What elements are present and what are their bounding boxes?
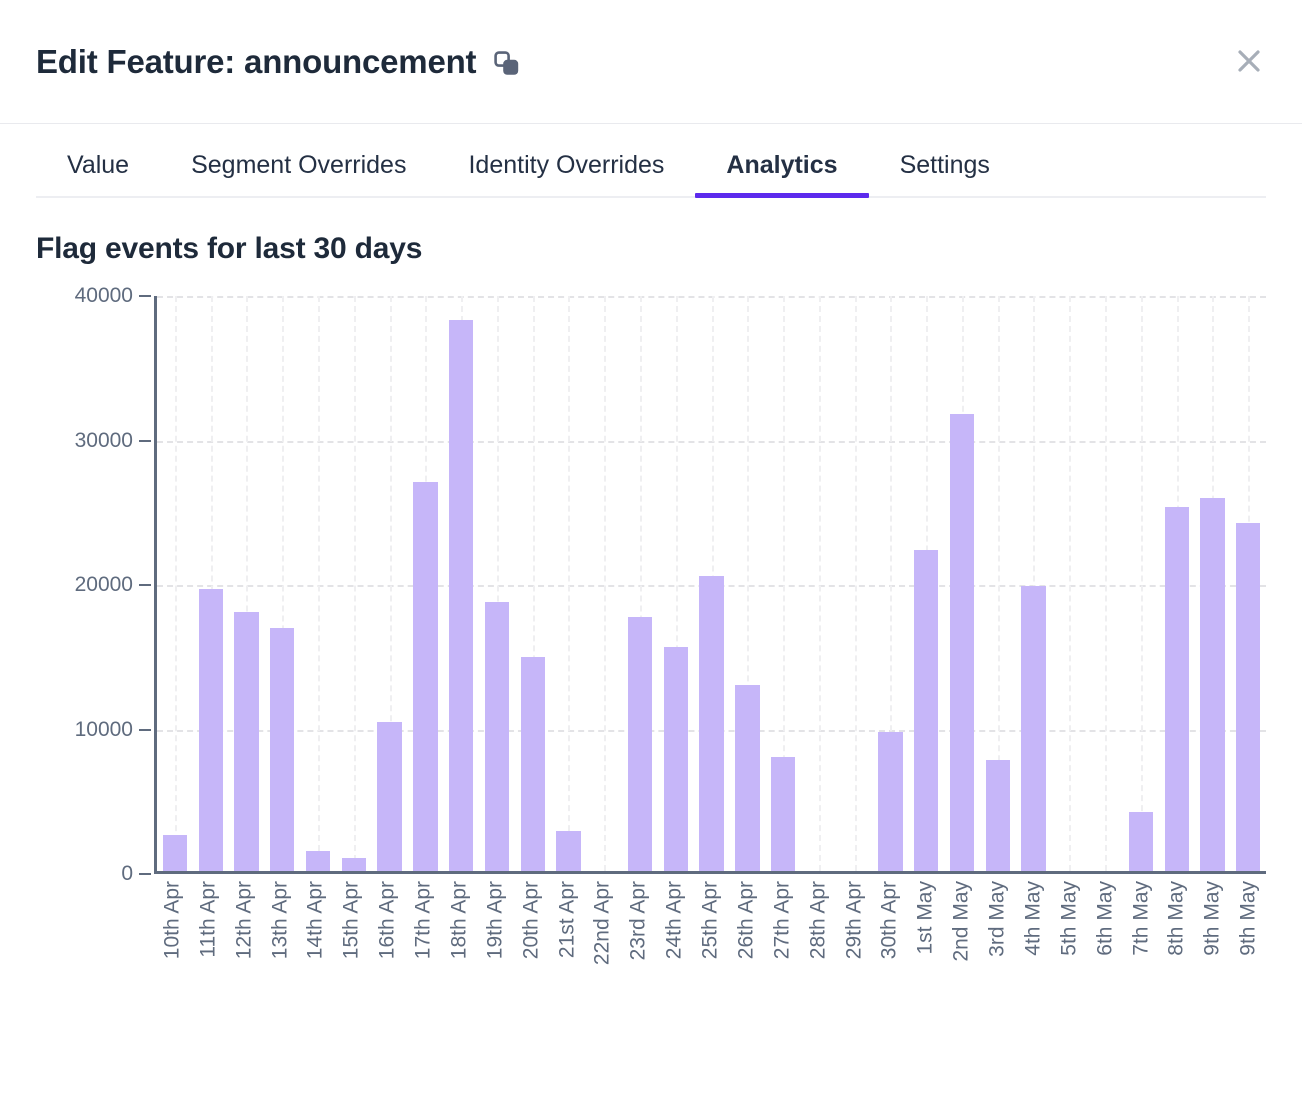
flag-events-bar-chart: 010000200003000040000 10th Apr11th Apr12… [36, 296, 1266, 1006]
bar[interactable] [163, 835, 187, 871]
bar[interactable] [413, 482, 437, 871]
x-axis-tick-label: 13th Apr [269, 881, 290, 959]
x-axis-tick: 15th Apr [333, 881, 369, 1001]
bar[interactable] [270, 628, 294, 871]
bar[interactable] [199, 589, 223, 871]
bar-slot [658, 296, 694, 871]
bar[interactable] [234, 612, 258, 871]
bar-slot [515, 296, 551, 871]
bar-slot [694, 296, 730, 871]
x-axis-tick-label: 11th Apr [197, 881, 218, 958]
x-axis-tick: 10th Apr [154, 881, 190, 1001]
plot-area [154, 296, 1266, 874]
bar[interactable] [628, 617, 652, 871]
x-axis-tick: 12th Apr [226, 881, 262, 1001]
y-axis: 010000200003000040000 [36, 296, 151, 874]
page-title: Edit Feature: announcement [36, 43, 476, 81]
x-axis-tick-label: 28th Apr [807, 881, 828, 959]
tab-bar: Value Segment Overrides Identity Overrid… [36, 124, 1266, 198]
x-axis-tick-label: 1st May [915, 881, 936, 955]
bar-slot [1052, 296, 1088, 871]
x-axis-tick: 29th Apr [836, 881, 872, 1001]
bar-slot [1016, 296, 1052, 871]
x-axis-tick: 25th Apr [692, 881, 728, 1001]
bar-slot [730, 296, 766, 871]
bar-slot [193, 296, 229, 871]
x-axis-tick: 2nd May [943, 881, 979, 1001]
x-axis-tick-label: 29th Apr [843, 881, 864, 959]
x-axis-tick-label: 26th Apr [735, 881, 756, 959]
close-icon[interactable] [1232, 44, 1266, 78]
tab-settings[interactable]: Settings [869, 153, 1021, 196]
bar[interactable] [664, 647, 688, 871]
x-axis-tick: 27th Apr [764, 881, 800, 1001]
y-axis-tick-label: 40000 [75, 284, 133, 308]
analytics-panel: Flag events for last 30 days 01000020000… [0, 198, 1302, 1006]
bar[interactable] [699, 576, 723, 871]
x-axis-tick: 26th Apr [728, 881, 764, 1001]
x-axis-tick: 24th Apr [656, 881, 692, 1001]
x-axis-tick-label: 27th Apr [771, 881, 792, 959]
x-axis-tick-label: 3rd May [987, 881, 1008, 957]
bar[interactable] [377, 722, 401, 871]
x-axis-tick-label: 25th Apr [700, 881, 721, 959]
y-axis-tick-label: 0 [121, 862, 133, 886]
bar[interactable] [1129, 812, 1153, 871]
x-axis-tick: 5th May [1051, 881, 1087, 1001]
x-axis-tick: 20th Apr [513, 881, 549, 1001]
bar[interactable] [449, 320, 473, 871]
x-axis-tick-label: 14th Apr [305, 881, 326, 959]
x-axis-tick-label: 5th May [1058, 881, 1079, 956]
y-axis-tick [139, 873, 151, 875]
bar-slot [551, 296, 587, 871]
y-axis-tick [139, 440, 151, 442]
bar-slot [157, 296, 193, 871]
x-axis-tick-label: 9th May [1202, 881, 1223, 956]
tab-analytics[interactable]: Analytics [695, 153, 868, 196]
bar-slot [336, 296, 372, 871]
x-axis-tick: 19th Apr [477, 881, 513, 1001]
x-axis-tick-label: 10th Apr [161, 881, 182, 959]
x-axis-tick: 14th Apr [298, 881, 334, 1001]
chart-title: Flag events for last 30 days [36, 232, 1266, 266]
x-axis-tick: 4th May [1015, 881, 1051, 1001]
x-axis-tick-label: 8th May [1166, 881, 1187, 956]
bar[interactable] [1165, 507, 1189, 871]
bar-slot [229, 296, 265, 871]
x-axis-tick: 28th Apr [800, 881, 836, 1001]
x-axis-tick-label: 21st Apr [556, 881, 577, 958]
y-axis-tick-label: 30000 [75, 429, 133, 453]
bar-slot [1123, 296, 1159, 871]
x-axis-tick-label: 23rd Apr [628, 881, 649, 960]
x-axis-tick-label: 24th Apr [664, 881, 685, 959]
y-axis-tick [139, 295, 151, 297]
x-axis-tick-label: 6th May [1094, 881, 1115, 956]
bar[interactable] [342, 858, 366, 871]
bar[interactable] [1200, 498, 1224, 871]
bar-slot [765, 296, 801, 871]
bar-slot [622, 296, 658, 871]
bar-slot [944, 296, 980, 871]
bar[interactable] [986, 760, 1010, 871]
bar[interactable] [556, 831, 580, 871]
x-axis-tick: 21st Apr [549, 881, 585, 1001]
bar[interactable] [771, 757, 795, 871]
title-wrap: Edit Feature: announcement [36, 43, 520, 81]
bar[interactable] [521, 657, 545, 871]
x-axis-tick-label: 2nd May [951, 881, 972, 962]
x-axis-tick: 7th May [1123, 881, 1159, 1001]
x-axis-tick-label: 20th Apr [520, 881, 541, 959]
bar-slot [1195, 296, 1231, 871]
x-axis-tick-label: 12th Apr [233, 881, 254, 959]
bar-slot [1159, 296, 1195, 871]
x-axis-tick-label: 17th Apr [413, 881, 434, 959]
x-axis-tick: 22nd Apr [585, 881, 621, 1001]
bar-slot [479, 296, 515, 871]
x-axis-tick: 17th Apr [405, 881, 441, 1001]
tab-value[interactable]: Value [36, 153, 160, 196]
x-axis-tick: 1st May [907, 881, 943, 1001]
y-axis-tick-label: 10000 [75, 718, 133, 742]
bar-slot [372, 296, 408, 871]
x-axis-tick: 23rd Apr [620, 881, 656, 1001]
y-axis-tick [139, 584, 151, 586]
x-axis-tick-label: 7th May [1130, 881, 1151, 956]
bar[interactable] [914, 550, 938, 871]
bar[interactable] [950, 414, 974, 871]
bar-slot [837, 296, 873, 871]
bar-slot [1230, 296, 1266, 871]
x-axis-tick: 9th May [1194, 881, 1230, 1001]
x-axis-tick: 11th Apr [190, 881, 226, 1001]
x-axis-tick: 8th May [1159, 881, 1195, 1001]
x-axis-tick-label: 18th Apr [448, 881, 469, 959]
x-axis-tick-label: 16th Apr [377, 881, 398, 959]
x-axis-tick: 30th Apr [872, 881, 908, 1001]
bar-slot [908, 296, 944, 871]
x-axis-tick-label: 30th Apr [879, 881, 900, 959]
modal-header: Edit Feature: announcement [0, 0, 1302, 124]
x-axis-tick: 3rd May [979, 881, 1015, 1001]
tab-segment-overrides[interactable]: Segment Overrides [160, 153, 437, 196]
bar-slot [407, 296, 443, 871]
bar-slot [980, 296, 1016, 871]
bar-slot [300, 296, 336, 871]
y-axis-tick [139, 729, 151, 731]
x-axis-tick: 6th May [1087, 881, 1123, 1001]
copy-icon[interactable] [494, 51, 520, 77]
bar-series [157, 296, 1266, 871]
bar-slot [801, 296, 837, 871]
bar-slot [586, 296, 622, 871]
x-axis: 10th Apr11th Apr12th Apr13th Apr14th Apr… [154, 881, 1266, 1001]
bar-slot [264, 296, 300, 871]
x-axis-tick: 13th Apr [262, 881, 298, 1001]
bar[interactable] [1021, 586, 1045, 871]
x-axis-tick: 18th Apr [441, 881, 477, 1001]
x-axis-tick-label: 9th May [1238, 881, 1259, 956]
y-axis-tick-label: 20000 [75, 573, 133, 597]
tab-identity-overrides[interactable]: Identity Overrides [437, 153, 695, 196]
bar-slot [443, 296, 479, 871]
x-axis-tick: 9th May [1230, 881, 1266, 1001]
x-axis-tick-label: 15th Apr [341, 881, 362, 959]
bar-slot [1087, 296, 1123, 871]
bar[interactable] [1236, 523, 1260, 871]
x-axis-tick: 16th Apr [369, 881, 405, 1001]
bar[interactable] [735, 685, 759, 871]
bar[interactable] [878, 732, 902, 871]
bar-slot [873, 296, 909, 871]
x-axis-tick-label: 22nd Apr [592, 881, 613, 965]
bar[interactable] [485, 602, 509, 871]
x-axis-tick-label: 19th Apr [484, 881, 505, 959]
x-axis-tick-label: 4th May [1022, 881, 1043, 956]
bar[interactable] [306, 851, 330, 871]
